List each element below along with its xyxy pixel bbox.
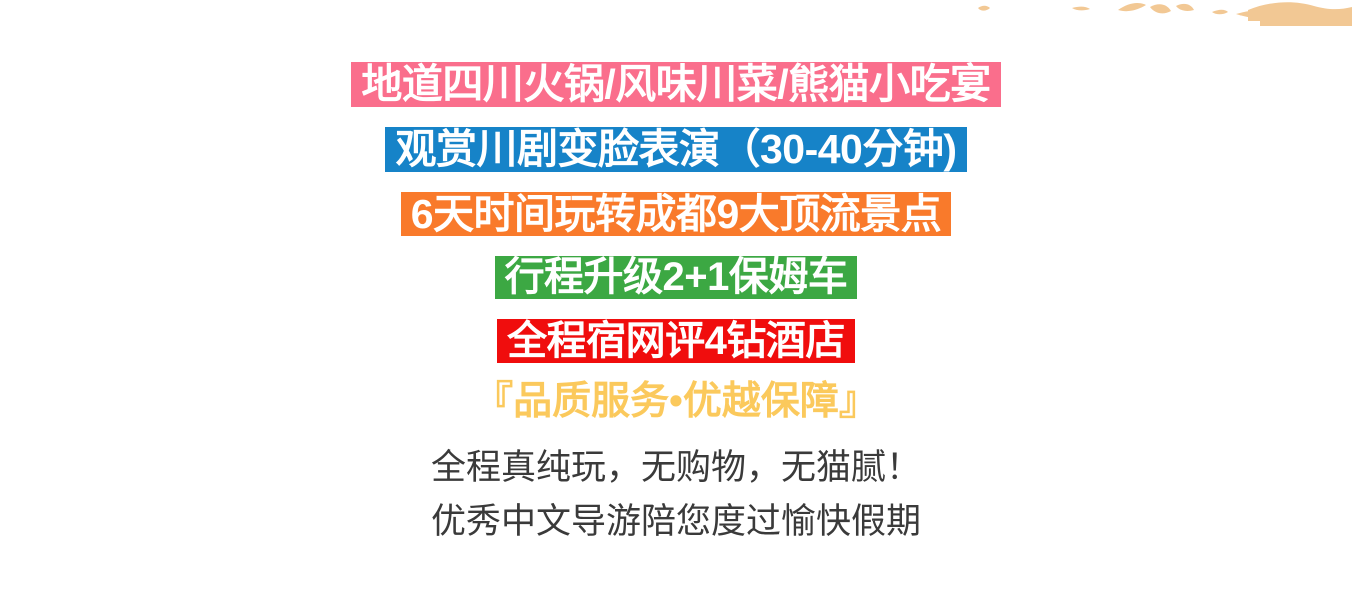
badge-row-vehicle-upgrade: 行程升级2+1保姆车 <box>0 256 1352 299</box>
badge-row-sichuan-food: 地道四川火锅/风味川菜/熊猫小吃宴 <box>0 62 1352 107</box>
badge-face-changing-show: 观赏川剧变脸表演（30-40分钟) <box>385 127 966 172</box>
badge-six-day-itinerary: 6天时间玩转成都9大顶流景点 <box>401 192 952 236</box>
body-line-chinese-guide: 优秀中文导游陪您度过愉快假期 <box>431 495 921 549</box>
badge-vehicle-upgrade: 行程升级2+1保姆车 <box>495 256 858 299</box>
badge-row-six-day-itinerary: 6天时间玩转成都9大顶流景点 <box>0 192 1352 236</box>
body-text-block: 全程真纯玩，无购物，无猫腻！ 优秀中文导游陪您度过愉快假期 <box>431 441 921 549</box>
body-line-no-shopping: 全程真纯玩，无购物，无猫腻！ <box>431 441 921 495</box>
gold-quality-service-line: 『品质服务•优越保障』 <box>474 379 878 425</box>
badge-four-diamond-hotel: 全程宿网评4钻酒店 <box>497 319 855 363</box>
promo-highlight-stack: 地道四川火锅/风味川菜/熊猫小吃宴 观赏川剧变脸表演（30-40分钟) 6天时间… <box>0 0 1352 549</box>
badge-row-face-changing-show: 观赏川剧变脸表演（30-40分钟) <box>0 127 1352 172</box>
badge-sichuan-food: 地道四川火锅/风味川菜/熊猫小吃宴 <box>351 62 1000 107</box>
badge-row-four-diamond-hotel: 全程宿网评4钻酒店 <box>0 319 1352 363</box>
